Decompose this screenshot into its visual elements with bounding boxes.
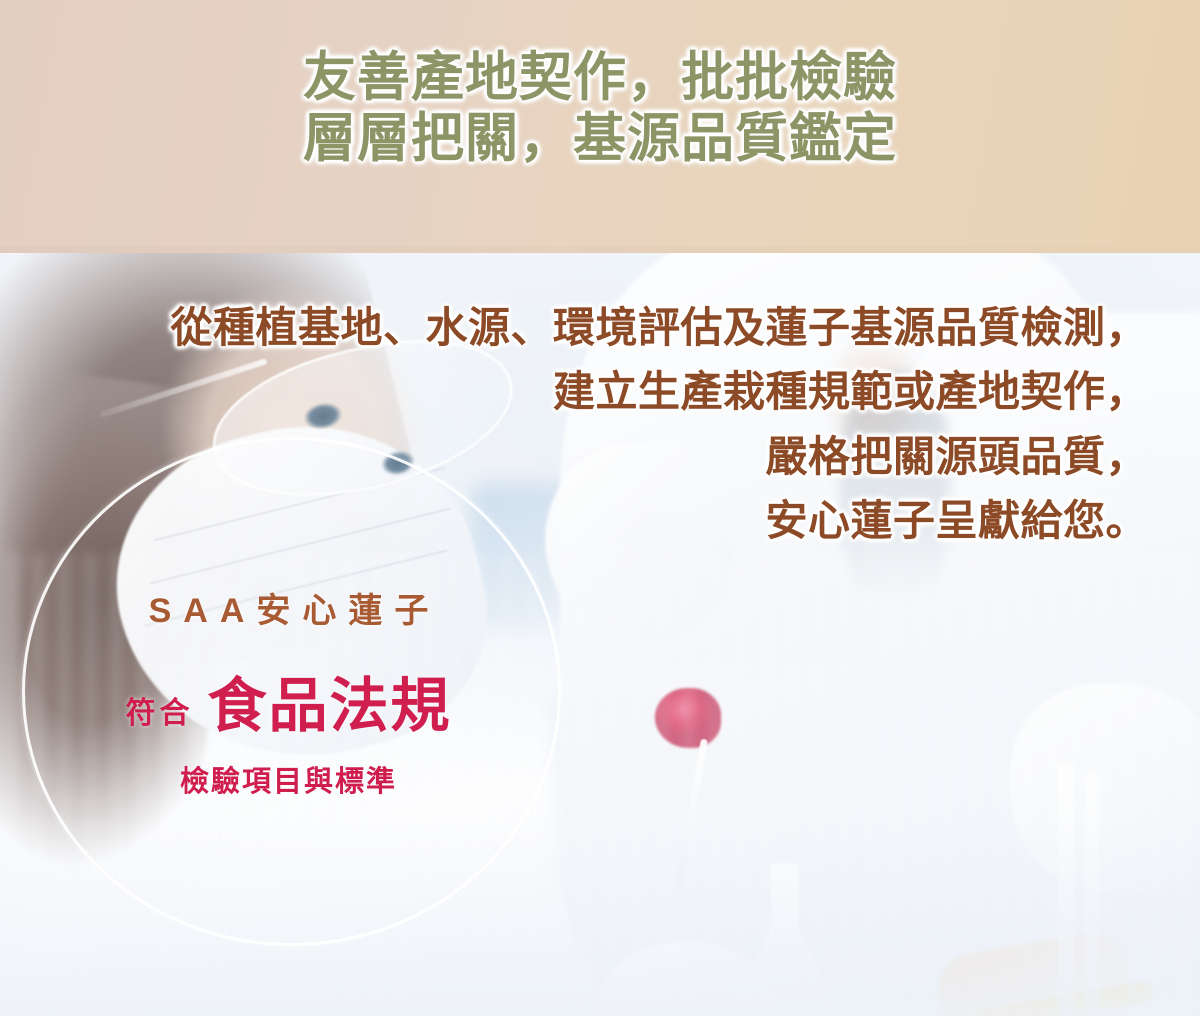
body-line-1: 從種植基地、水源、環境評估及蓮子基源品質檢測， xyxy=(18,296,1148,360)
body-line-4: 安心蓮子呈獻給您。 xyxy=(18,489,1148,553)
compliance-main: 食品法規 xyxy=(207,677,451,736)
compliance-subtitle: 檢驗項目與標準 xyxy=(22,758,555,800)
body-line-3: 嚴格把關源頭品質， xyxy=(18,425,1148,489)
headline-line-2: 層層把關，基源品質鑑定 xyxy=(0,108,1200,169)
promo-banner: 友善產地契作，批批檢驗 層層把關，基源品質鑑定 xyxy=(0,0,1200,1016)
body-line-2: 建立生產栽種規範或產地契作， xyxy=(18,360,1148,424)
page-title: 友善產地契作，批批檢驗 層層把關，基源品質鑑定 xyxy=(0,47,1200,170)
header-band: 友善產地契作，批批檢驗 層層把關，基源品質鑑定 xyxy=(0,0,1200,253)
body-copy: 從種植基地、水源、環境評估及蓮子基源品質檢測， 建立生產栽種規範或產地契作， 嚴… xyxy=(18,296,1148,553)
compliance-prefix: 符合 xyxy=(125,699,193,736)
brand-name: SAA安心蓮子 xyxy=(22,590,555,633)
certification-badge: SAA安心蓮子 符合 食品法規 檢驗項目與標準 xyxy=(22,590,555,800)
compliance-headline: 符合 食品法規 xyxy=(22,677,555,736)
headline-line-1: 友善產地契作，批批檢驗 xyxy=(0,47,1200,108)
